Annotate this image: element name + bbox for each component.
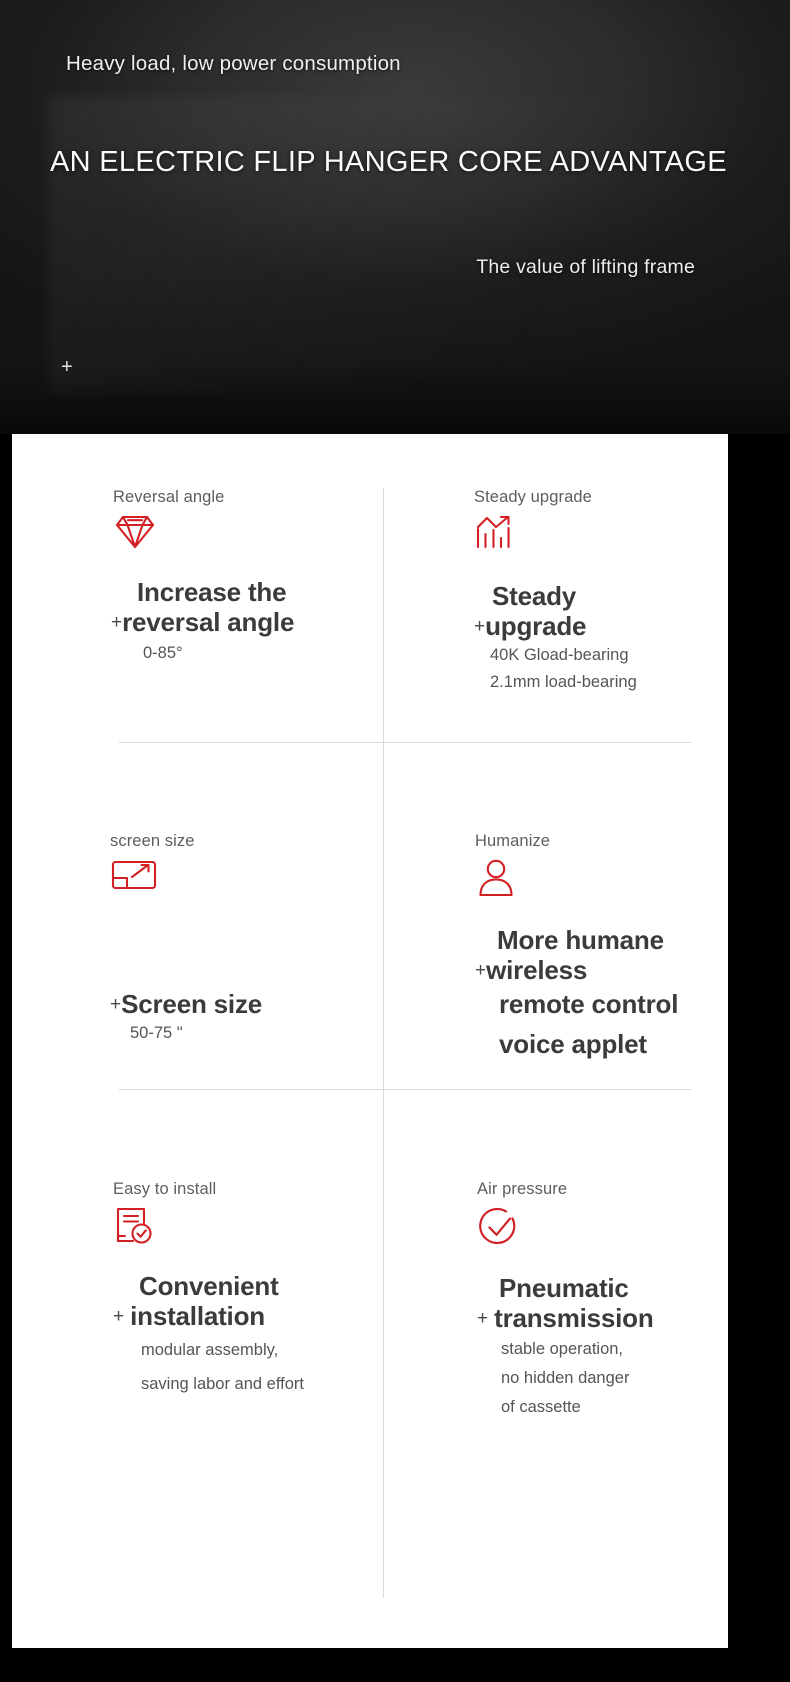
- feature-detail-line: modular assembly,: [141, 1335, 304, 1365]
- feature-headline: Convenient + installation: [113, 1271, 304, 1331]
- feature-label: Humanize: [475, 832, 678, 851]
- feature-detail-line: remote control: [499, 985, 678, 1025]
- plus-marker-icon: +: [61, 357, 73, 377]
- right-gutter: [728, 434, 790, 1648]
- grid-vertical-divider: [383, 488, 384, 1598]
- feature-card-humanize: Humanize More humane + wireless remote c…: [475, 832, 678, 1064]
- feature-headline: More humane + wireless: [475, 925, 678, 985]
- person-icon: [475, 857, 678, 899]
- feature-detail-line: stable operation,: [501, 1337, 654, 1362]
- plus-marker-icon: +: [474, 617, 485, 636]
- feature-label: screen size: [110, 832, 262, 851]
- diamond-icon: [113, 513, 294, 551]
- feature-label: Reversal angle: [113, 488, 294, 507]
- feature-detail-line: 40K Gload-bearing: [490, 643, 637, 668]
- feature-card-screen-size: screen size + Screen size 50-75 ": [110, 832, 262, 1046]
- feature-headline: Steady + upgrade: [474, 581, 637, 641]
- grid-horizontal-divider-2: [119, 1089, 692, 1090]
- feature-card-reversal-angle: Reversal angle Increase the + reversal a…: [113, 488, 294, 666]
- circle-check-icon: [477, 1205, 654, 1249]
- feature-card-easy-install: Easy to install Convenient + installatio…: [113, 1180, 304, 1399]
- footer-strip: [0, 1648, 790, 1682]
- feature-headline-line1: Increase the: [137, 577, 294, 607]
- feature-headline-line2: upgrade: [485, 611, 586, 641]
- hero-kicker: Heavy load, low power consumption: [66, 52, 401, 76]
- feature-detail-line: voice applet: [499, 1025, 678, 1065]
- plus-marker-icon: +: [110, 995, 121, 1014]
- plus-marker-icon: +: [475, 961, 486, 980]
- plus-marker-icon: +: [477, 1309, 488, 1328]
- feature-label: Steady upgrade: [474, 488, 637, 507]
- feature-detail-line: saving labor and effort: [141, 1369, 304, 1399]
- document-check-icon: [113, 1205, 304, 1247]
- feature-headline-line1: Pneumatic: [499, 1273, 654, 1303]
- feature-label: Air pressure: [477, 1180, 654, 1199]
- left-gutter: [0, 434, 12, 1648]
- hero-banner: Heavy load, low power consumption AN ELE…: [0, 0, 790, 434]
- feature-detail-line: 50-75 ": [130, 1021, 262, 1046]
- feature-headline-line1: Steady: [492, 581, 637, 611]
- feature-label: Easy to install: [113, 1180, 304, 1199]
- feature-headline-line2: wireless: [486, 955, 587, 985]
- feature-headline-line1: More humane: [497, 925, 678, 955]
- growth-chart-icon: [474, 513, 637, 553]
- feature-detail-line: no hidden danger: [501, 1366, 654, 1391]
- feature-detail-line: 0-85°: [143, 641, 294, 666]
- hero-subtitle: The value of lifting frame: [476, 256, 695, 279]
- feature-headline-line1: Convenient: [139, 1271, 304, 1301]
- feature-card-air-pressure: Air pressure Pneumatic + transmission st…: [477, 1180, 654, 1421]
- feature-headline: + Screen size: [110, 989, 262, 1019]
- feature-detail-line: of cassette: [501, 1395, 654, 1420]
- feature-headline: Pneumatic + transmission: [477, 1273, 654, 1333]
- plus-marker-icon: +: [113, 1307, 124, 1326]
- grid-horizontal-divider-1: [119, 742, 692, 743]
- feature-headline-line2: transmission: [494, 1303, 653, 1333]
- feature-headline-line2: installation: [130, 1301, 265, 1331]
- screen-expand-icon: [110, 857, 262, 893]
- feature-headline-line2: Screen size: [121, 989, 262, 1019]
- feature-headline-line2: reversal angle: [122, 607, 294, 637]
- feature-card-steady-upgrade: Steady upgrade Steady + upgrade 40K Gloa…: [474, 488, 637, 695]
- page-title: AN ELECTRIC FLIP HANGER CORE ADVANTAGE: [50, 146, 727, 179]
- feature-headline: Increase the + reversal angle: [111, 577, 294, 637]
- plus-marker-icon: +: [111, 613, 122, 632]
- feature-detail-line: 2.1mm load-bearing: [490, 670, 637, 695]
- promo-page: Heavy load, low power consumption AN ELE…: [0, 0, 790, 1682]
